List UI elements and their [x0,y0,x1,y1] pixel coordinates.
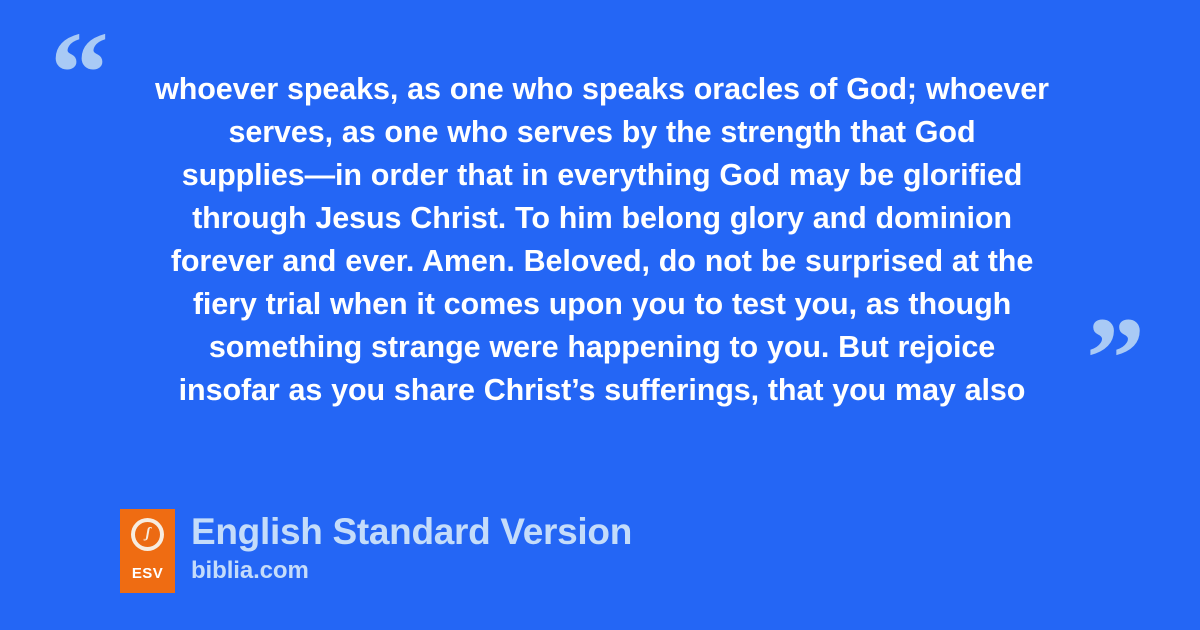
esv-logo: ʃ ESV [120,509,175,593]
quote-line: insofar as you share Christ’s sufferings… [118,369,1086,412]
quote-text: whoever speaks, as one who speaks oracle… [118,68,1086,412]
quote-line: whoever speaks, as one who speaks oracle… [118,68,1086,111]
esv-seal-monogram: ʃ [146,527,150,542]
attribution: ʃ ESV English Standard Version biblia.co… [120,509,632,593]
closing-quote-icon: ” [1086,300,1143,418]
esv-abbreviation-label: ESV [132,566,163,581]
attribution-text: English Standard Version biblia.com [191,509,632,585]
site-url-label[interactable]: biblia.com [191,557,632,585]
quote-line: supplies—in order that in everything God… [118,154,1086,197]
quote-line: through Jesus Christ. To him belong glor… [118,197,1086,240]
esv-seal-icon: ʃ [131,518,164,551]
quote-card: “ whoever speaks, as one who speaks orac… [0,0,1200,630]
opening-quote-icon: “ [50,14,107,132]
bible-version-title: English Standard Version [191,509,632,555]
quote-line: forever and ever. Amen. Beloved, do not … [118,240,1086,283]
quote-line: fiery trial when it comes upon you to te… [118,283,1086,326]
quote-line: something strange were happening to you.… [118,326,1086,369]
quote-area: “ whoever speaks, as one who speaks orac… [0,0,1200,470]
quote-line: serves, as one who serves by the strengt… [118,111,1086,154]
